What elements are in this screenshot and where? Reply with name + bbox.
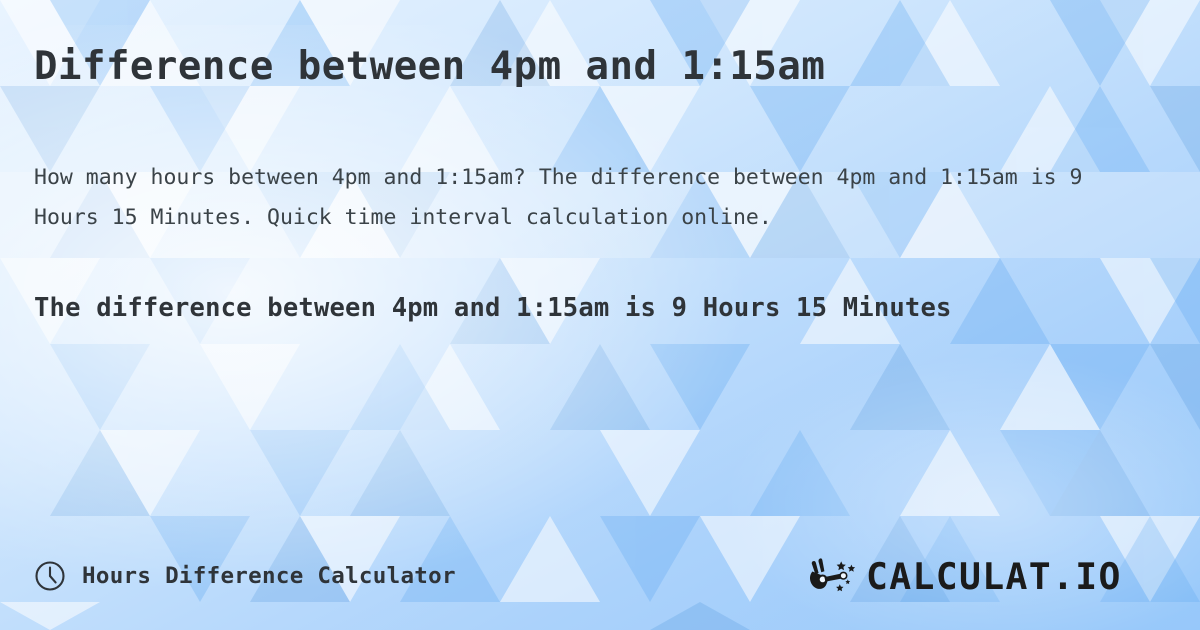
magic-wand-hand-icon — [808, 557, 860, 595]
tool-name-label: Hours Difference Calculator — [82, 563, 456, 589]
page-root: Difference between 4pm and 1:15am How ma… — [0, 0, 1200, 630]
brand-logo[interactable]: CALCULAT.IO — [808, 554, 1166, 598]
clock-icon — [34, 560, 66, 592]
intro-paragraph: How many hours between 4pm and 1:15am? T… — [34, 90, 1109, 238]
brand-wordmark: CALCULAT.IO — [866, 554, 1166, 598]
page-title: Difference between 4pm and 1:15am — [34, 0, 1166, 90]
brand-wordmark-text: CALCULAT.IO — [866, 558, 1122, 598]
footer: Hours Difference Calculator — [0, 522, 1200, 630]
tool-identity[interactable]: Hours Difference Calculator — [34, 560, 456, 592]
result-statement: The difference between 4pm and 1:15am is… — [34, 238, 1069, 332]
